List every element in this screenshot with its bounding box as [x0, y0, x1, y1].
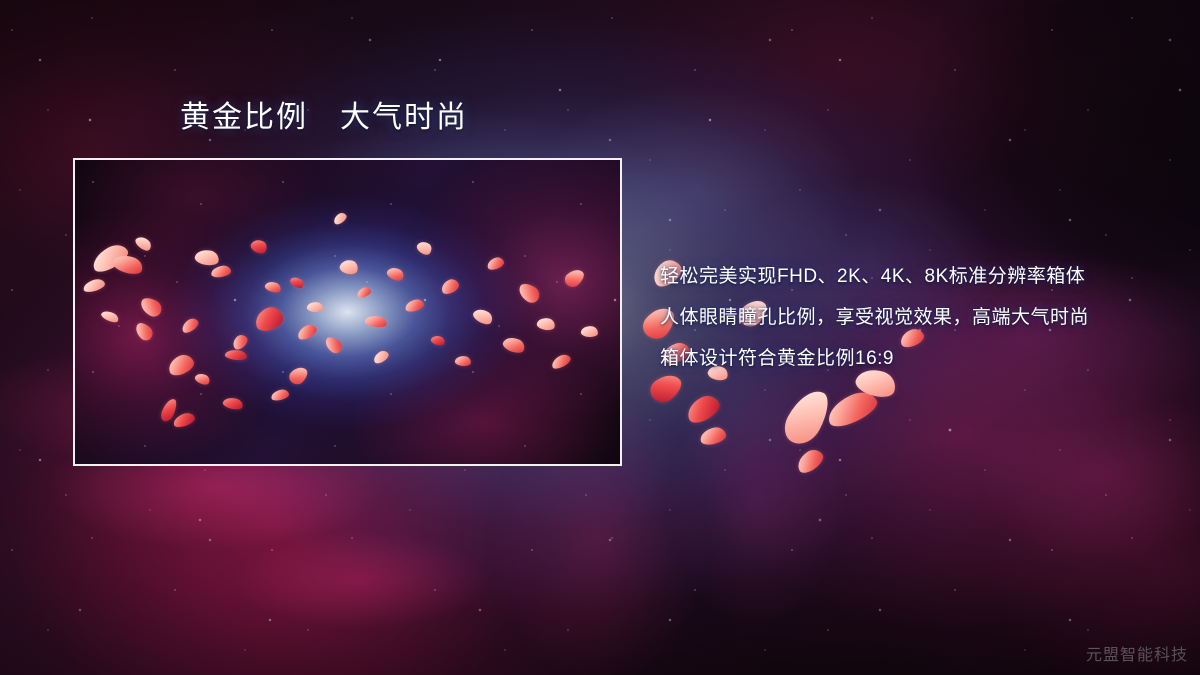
page-title: 黄金比例 大气时尚	[180, 100, 468, 136]
watermark: 元盟智能科技	[1086, 641, 1188, 665]
presentation-slide: 黄金比例 大气时尚 轻松完美实现FHD、2K、4K、8K标准分辨率箱体 人体眼睛…	[0, 0, 1200, 675]
panel-starfield	[75, 160, 620, 464]
preview-panel	[73, 158, 622, 466]
body-line-3: 箱体设计符合黄金比例16:9	[660, 338, 1180, 379]
body-line-2: 人体眼睛瞳孔比例，享受视觉效果，高端大气时尚	[660, 297, 1180, 338]
body-line-1: 轻松完美实现FHD、2K、4K、8K标准分辨率箱体	[660, 256, 1180, 297]
body-text-block: 轻松完美实现FHD、2K、4K、8K标准分辨率箱体 人体眼睛瞳孔比例，享受视觉效…	[660, 256, 1180, 379]
